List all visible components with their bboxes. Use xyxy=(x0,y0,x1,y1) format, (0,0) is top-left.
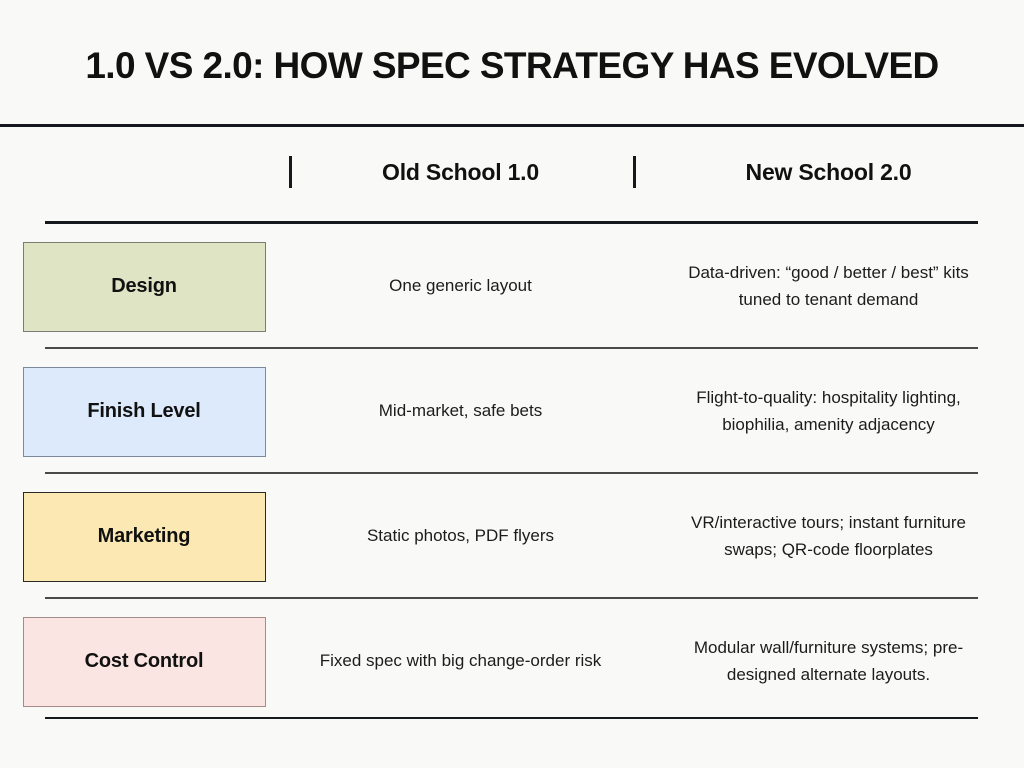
table-row: Marketing Static photos, PDF flyers VR/i… xyxy=(0,474,1024,599)
row-label-cell: Design xyxy=(0,224,288,349)
category-chip-cost-control: Cost Control xyxy=(23,617,266,707)
vertical-bar-icon xyxy=(633,156,636,188)
old-school-text: One generic layout xyxy=(367,273,554,299)
row-old-cell: One generic layout xyxy=(288,224,633,349)
page-title: 1.0 VS 2.0: HOW SPEC STRATEGY HAS EVOLVE… xyxy=(85,45,938,87)
comparison-table: Old School 1.0 New School 2.0 Design One… xyxy=(0,127,1024,217)
old-school-text: Fixed spec with big change-order risk xyxy=(298,648,624,674)
row-new-cell: Data-driven: “good / better / best” kits… xyxy=(633,224,1024,349)
header-old-text: Old School 1.0 xyxy=(382,159,539,186)
table-row: Finish Level Mid-market, safe bets Fligh… xyxy=(0,349,1024,474)
new-school-text: Modular wall/furniture systems; pre-desi… xyxy=(633,635,1024,688)
category-label: Finish Level xyxy=(87,400,200,423)
new-school-text: Flight-to-quality: hospitality lighting,… xyxy=(633,385,1024,438)
row-old-cell: Mid-market, safe bets xyxy=(288,349,633,474)
row-old-cell: Static photos, PDF flyers xyxy=(288,474,633,599)
row-new-cell: VR/interactive tours; instant furniture … xyxy=(633,474,1024,599)
row-label-cell: Cost Control xyxy=(0,599,288,724)
table-header-row: Old School 1.0 New School 2.0 xyxy=(0,127,1024,217)
title-area: 1.0 VS 2.0: HOW SPEC STRATEGY HAS EVOLVE… xyxy=(0,0,1024,125)
table-bottom-divider xyxy=(45,717,978,719)
row-label-cell: Marketing xyxy=(0,474,288,599)
header-cell-label xyxy=(0,127,288,217)
row-new-cell: Modular wall/furniture systems; pre-desi… xyxy=(633,599,1024,724)
old-school-text: Static photos, PDF flyers xyxy=(345,523,576,549)
old-school-text: Mid-market, safe bets xyxy=(357,398,564,424)
header-cell-old: Old School 1.0 xyxy=(288,127,633,217)
new-school-text: VR/interactive tours; instant furniture … xyxy=(633,510,1024,563)
category-label: Cost Control xyxy=(85,650,204,673)
row-old-cell: Fixed spec with big change-order risk xyxy=(288,599,633,724)
category-chip-design: Design xyxy=(23,242,266,332)
table-row: Cost Control Fixed spec with big change-… xyxy=(0,599,1024,724)
vertical-bar-icon xyxy=(289,156,292,188)
row-new-cell: Flight-to-quality: hospitality lighting,… xyxy=(633,349,1024,474)
table-row: Design One generic layout Data-driven: “… xyxy=(0,224,1024,349)
header-new-text: New School 2.0 xyxy=(746,159,912,186)
comparison-infographic: 1.0 VS 2.0: HOW SPEC STRATEGY HAS EVOLVE… xyxy=(0,0,1024,768)
table-body: Design One generic layout Data-driven: “… xyxy=(0,224,1024,724)
category-label: Marketing xyxy=(98,525,191,548)
header-cell-new: New School 2.0 xyxy=(633,127,1024,217)
category-label: Design xyxy=(111,275,176,298)
category-chip-marketing: Marketing xyxy=(23,492,266,582)
category-chip-finish-level: Finish Level xyxy=(23,367,266,457)
new-school-text: Data-driven: “good / better / best” kits… xyxy=(633,260,1024,313)
row-label-cell: Finish Level xyxy=(0,349,288,474)
